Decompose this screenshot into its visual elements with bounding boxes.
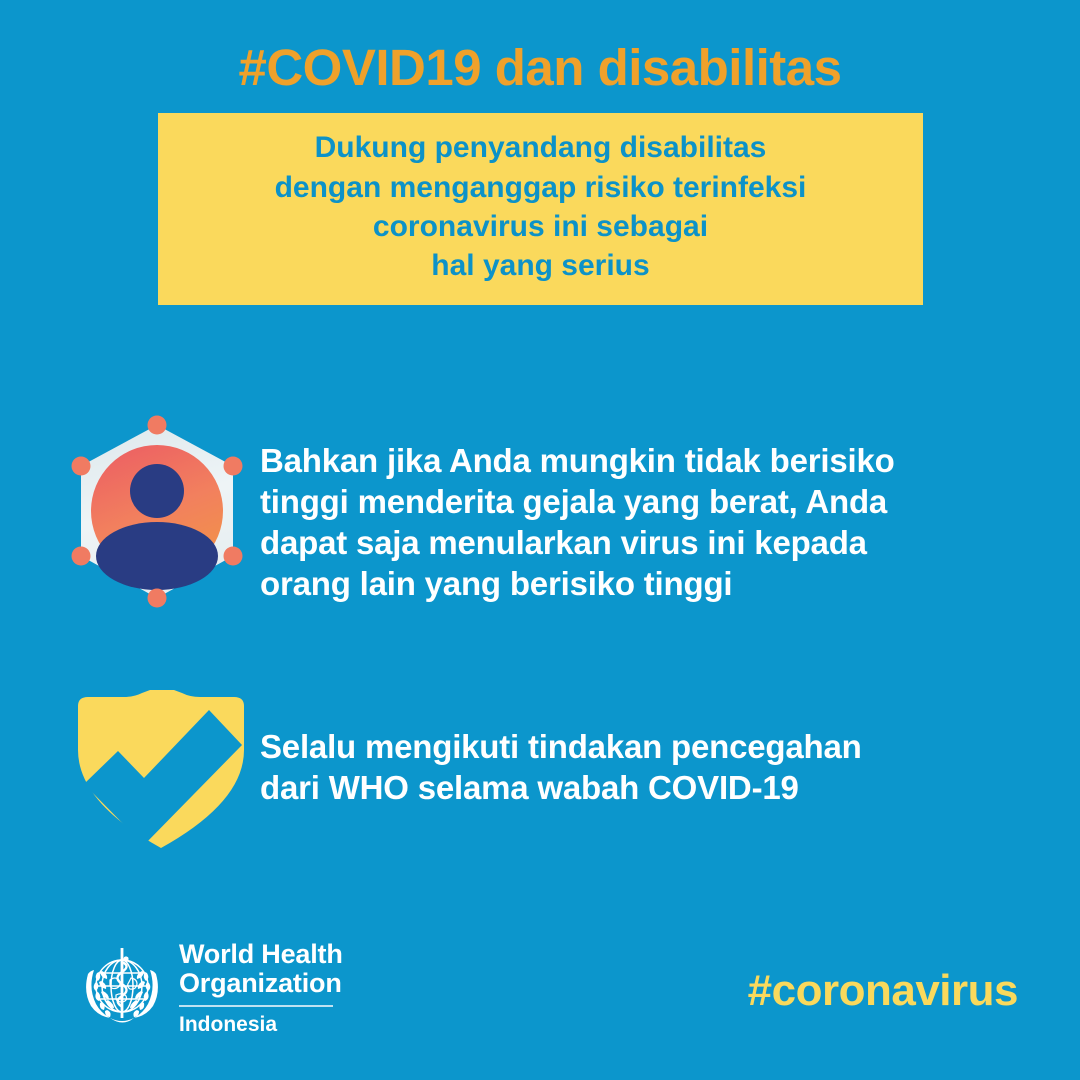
callout-line: coronavirus ini sebagai — [275, 207, 807, 246]
message-line: Bahkan jika Anda mungkin tidak berisiko — [260, 441, 895, 482]
poster-canvas: #COVID19 dan disabilitas Dukung penyanda… — [0, 0, 1080, 1080]
who-emblem-icon — [76, 940, 168, 1032]
message-line: orang lain yang berisiko tinggi — [260, 564, 895, 605]
callout-line: Dukung penyandang disabilitas — [275, 128, 807, 167]
divider — [179, 1005, 333, 1007]
message-line: Selalu mengikuti tindakan pencegahan — [260, 727, 862, 768]
who-name-line-1: World Health — [179, 940, 343, 969]
message-line: dari WHO selama wabah COVID-19 — [260, 768, 862, 809]
message-line: dapat saja menularkan virus ini kepada — [260, 523, 895, 564]
message-line: tinggi menderita gejala yang berat, Anda — [260, 482, 895, 523]
who-country-label: Indonesia — [179, 1013, 343, 1037]
message-text-precautions: Selalu mengikuti tindakan pencegahan dar… — [260, 690, 862, 809]
page-title: #COVID19 dan disabilitas — [0, 40, 1080, 96]
callout-line: hal yang serius — [275, 246, 807, 285]
message-row-transmission: Bahkan jika Anda mungkin tidak berisiko … — [55, 408, 1045, 618]
hexagon-person-icon — [55, 408, 260, 618]
callout-text: Dukung penyandang disabilitas dengan men… — [275, 128, 807, 289]
who-wordmark: World Health Organization Indonesia — [179, 936, 343, 1037]
message-row-precautions: Selalu mengikuti tindakan pencegahan dar… — [62, 690, 1042, 850]
who-name-line-2: Organization — [179, 969, 343, 998]
callout-line: dengan menganggap risiko terinfeksi — [275, 168, 807, 207]
shield-check-icon — [62, 690, 260, 850]
who-logo: World Health Organization Indonesia — [76, 936, 343, 1037]
hashtag-coronavirus: #coronavirus — [748, 966, 1018, 1016]
message-text-transmission: Bahkan jika Anda mungkin tidak berisiko … — [260, 408, 895, 605]
callout-box: Dukung penyandang disabilitas dengan men… — [158, 113, 923, 305]
